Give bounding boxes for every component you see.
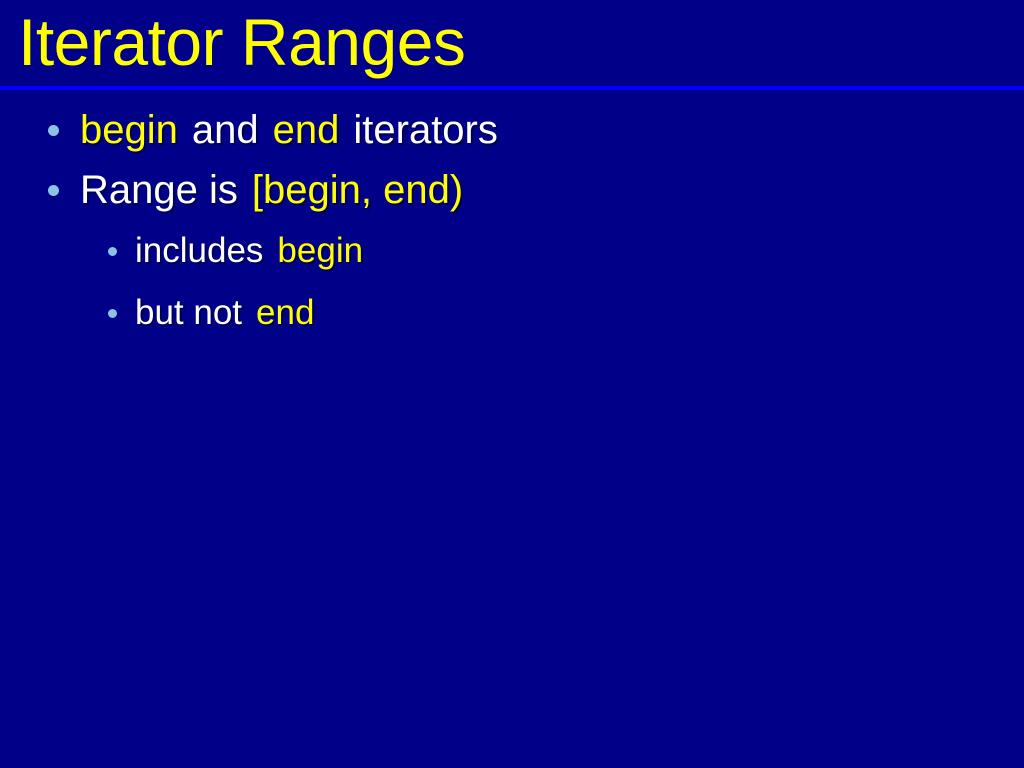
bullet-segment-end: end	[256, 293, 314, 332]
body-content: beginandenditerators Range is[begin, end…	[0, 100, 1024, 344]
title-divider-rule	[0, 86, 1024, 90]
bullet-dot-icon	[48, 185, 59, 196]
list-item: Range is[begin, end)	[0, 160, 1024, 220]
list-item: but notend	[0, 282, 1024, 344]
bullet-segment-range-notation: [begin, end)	[252, 168, 463, 212]
bullet-dot-icon	[108, 247, 117, 256]
list-item: beginandenditerators	[0, 100, 1024, 160]
slide-canvas: Iterator Ranges beginandenditerators Ran…	[0, 0, 1024, 768]
bullet-segment-includes: includes	[135, 231, 263, 270]
bullet-segment-begin: begin	[80, 108, 178, 152]
bullet-segment-range-is: Range is	[80, 168, 238, 212]
title-area: Iterator Ranges	[0, 0, 1024, 86]
bullet-segment-begin: begin	[277, 231, 363, 270]
page-title: Iterator Ranges	[18, 2, 465, 82]
bullet-dot-icon	[108, 309, 117, 318]
bullet-segment-iterators: iterators	[353, 108, 498, 152]
list-item: includesbegin	[0, 220, 1024, 282]
bullet-segment-and: and	[192, 108, 259, 152]
bullet-segment-end: end	[273, 108, 340, 152]
bullet-segment-but-not: but not	[135, 293, 242, 332]
bullet-dot-icon	[48, 125, 59, 136]
